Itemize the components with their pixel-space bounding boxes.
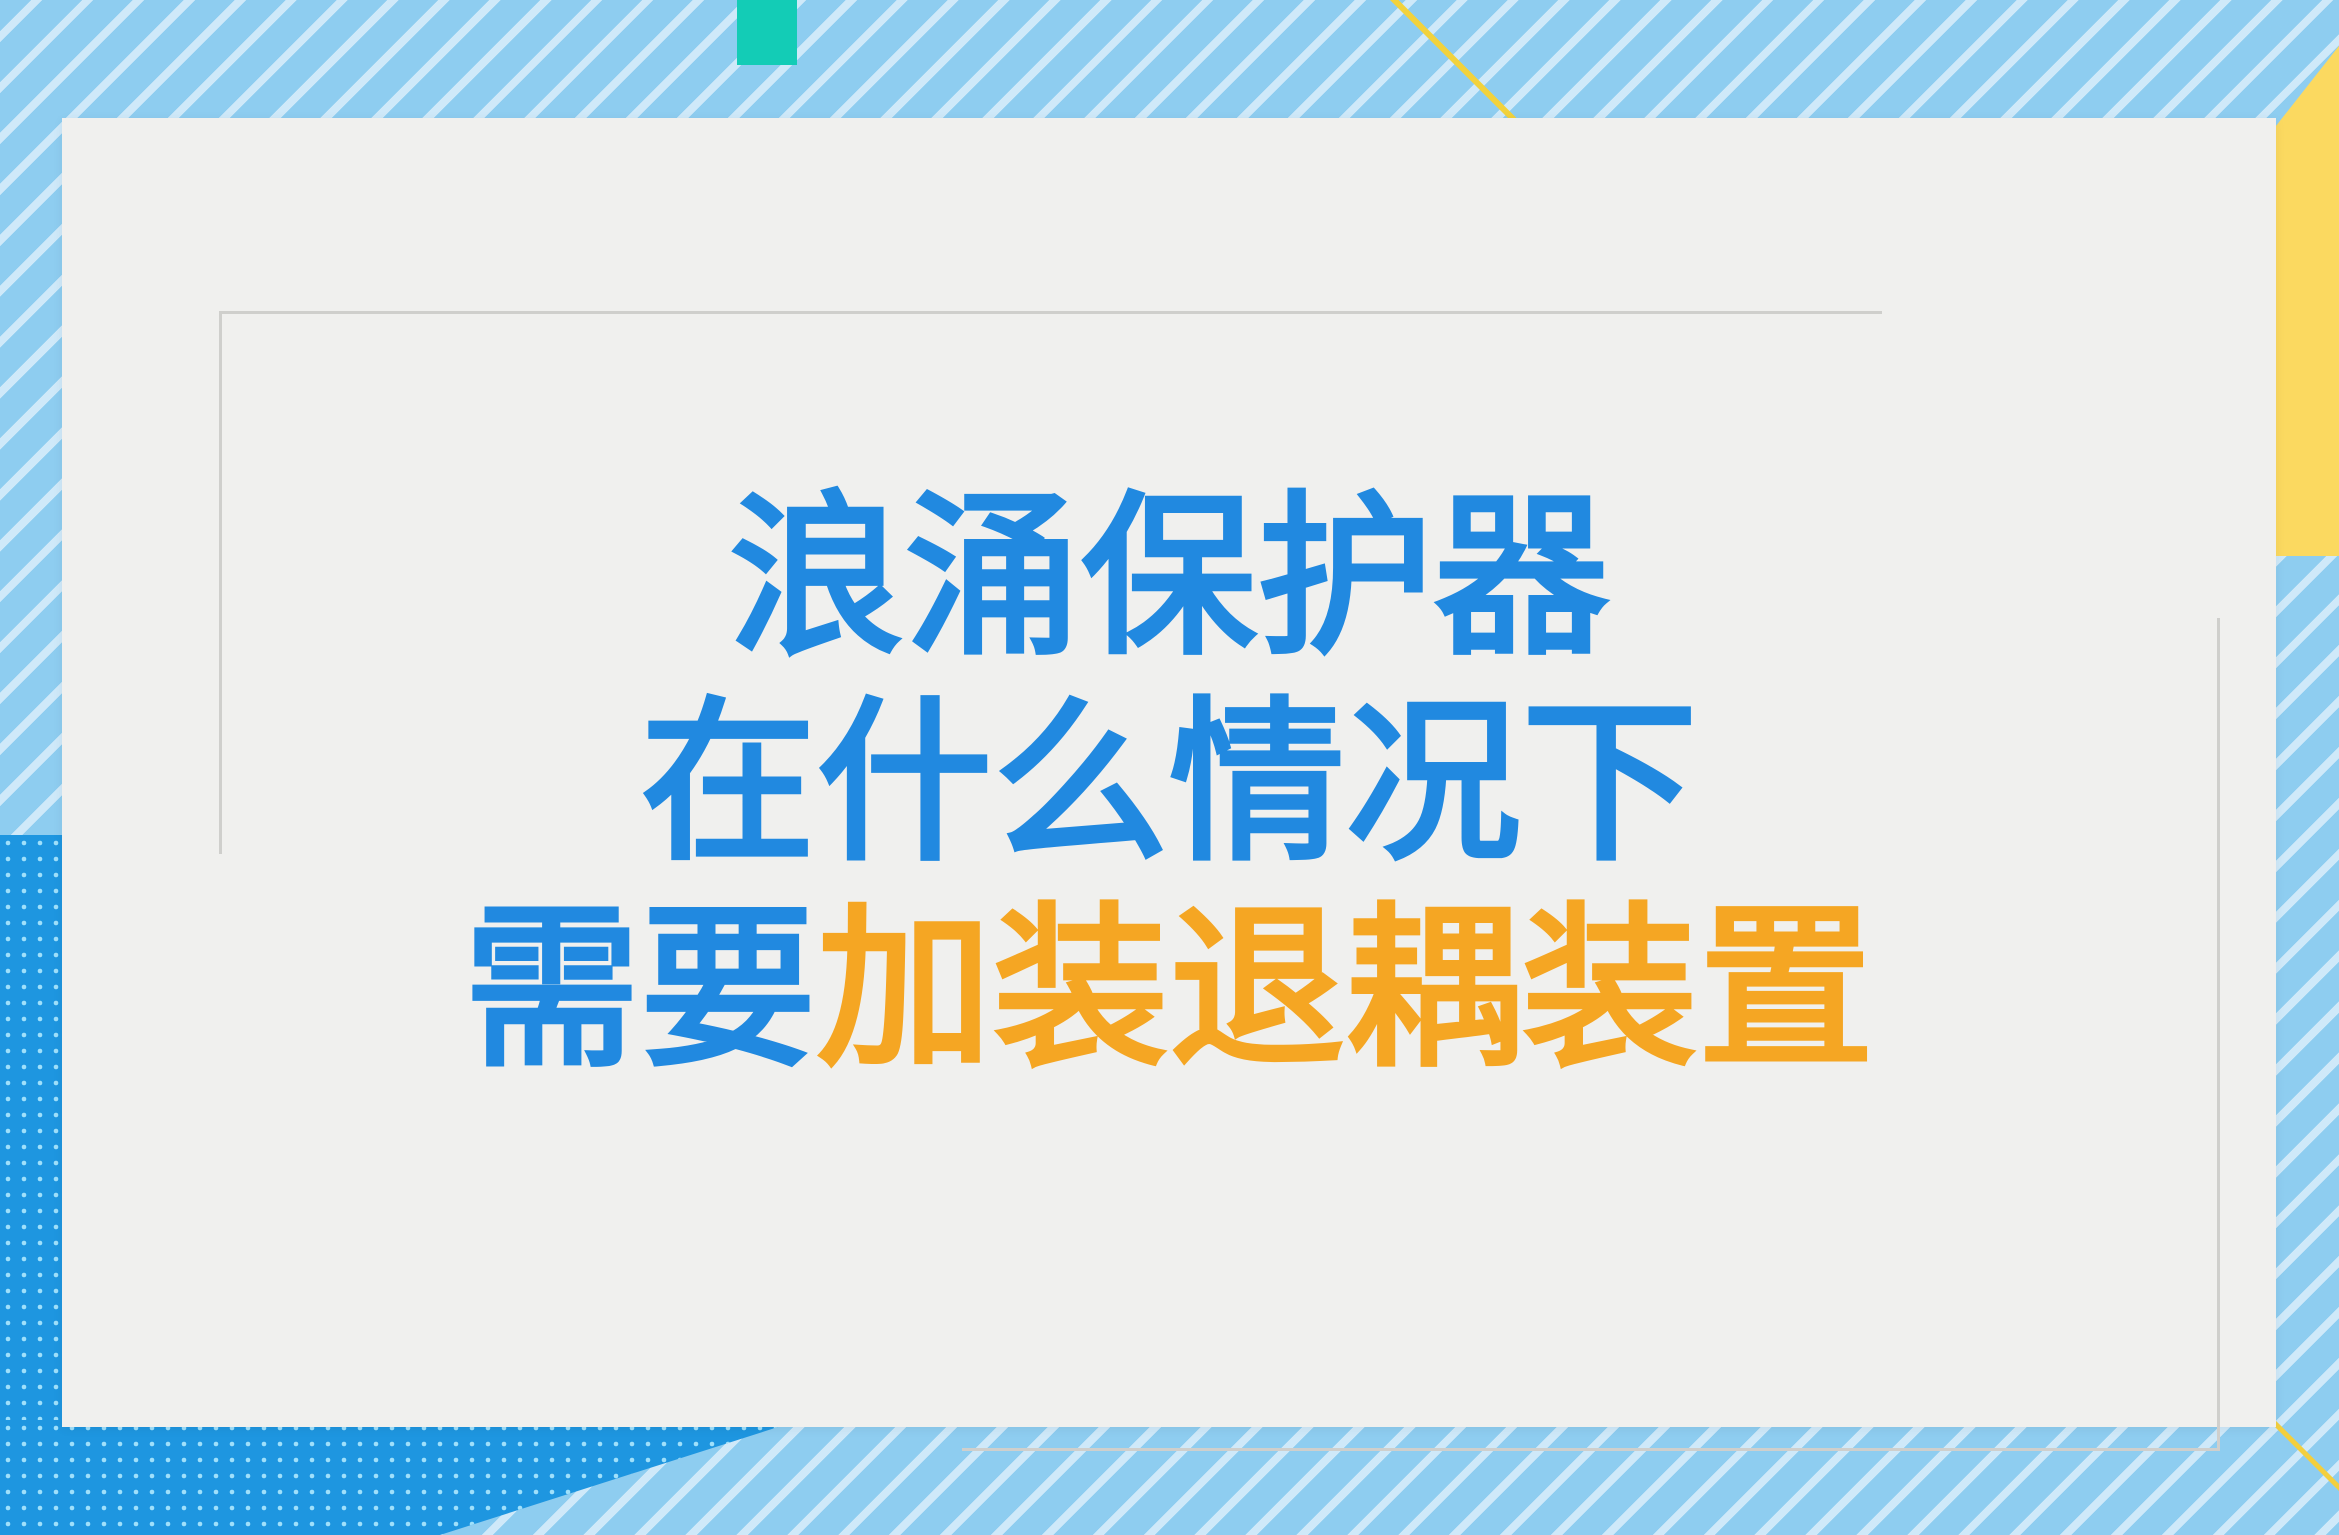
content-card: 浪涌保护器 在什么情况下 需要加装退耦装置 xyxy=(62,118,2276,1427)
headline-line-2: 在什么情况下 xyxy=(62,696,2276,872)
headline-line-1: 浪涌保护器 xyxy=(62,490,2276,666)
headline-line-3: 需要加装退耦装置 xyxy=(62,902,2276,1078)
headline-block: 浪涌保护器 在什么情况下 需要加装退耦装置 xyxy=(62,490,2276,1078)
poster-canvas: 浪涌保护器 在什么情况下 需要加装退耦装置 xyxy=(0,0,2339,1535)
headline-line-3-blue: 需要 xyxy=(464,892,817,1088)
teal-tab-marker xyxy=(737,0,797,65)
headline-line-3-orange: 加装退耦装置 xyxy=(816,892,1874,1088)
